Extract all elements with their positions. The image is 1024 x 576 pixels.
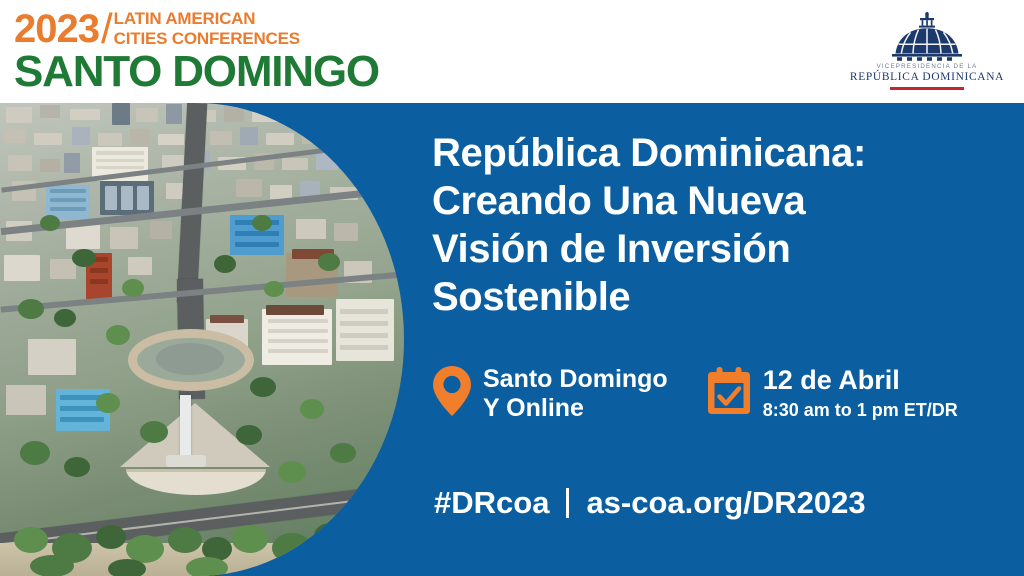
photo-obelisk xyxy=(180,395,191,461)
brand-series-name: LATIN AMERICAN CITIES CONFERENCES xyxy=(114,8,300,49)
event-hashtag: #DRcoa xyxy=(434,485,549,521)
event-meta-row: Santo Domingo Y Online 12 de Abril 8 xyxy=(432,365,958,423)
date-time: 8:30 am to 1 pm ET/DR xyxy=(763,398,958,422)
date-day: 12 de Abril xyxy=(763,365,958,396)
location-city: Santo Domingo xyxy=(483,365,668,394)
event-promo-poster: 2023 / LATIN AMERICAN CITIES CONFERENCES… xyxy=(0,0,1024,576)
event-details: República Dominicana: Creando Una Nueva … xyxy=(432,103,1012,576)
dome-icon xyxy=(881,12,973,62)
photo-obelisk-base xyxy=(166,455,206,467)
event-url[interactable]: as-coa.org/DR2023 xyxy=(586,485,865,521)
vp-logo-underline xyxy=(890,87,964,90)
brand-slash-divider: / xyxy=(101,8,113,50)
main-blue-panel: República Dominicana: Creando Una Nueva … xyxy=(0,103,1024,576)
title-line-2: Creando Una Nueva xyxy=(432,177,992,225)
conference-brand-lockup: 2023 / LATIN AMERICAN CITIES CONFERENCES… xyxy=(14,8,354,96)
event-title: República Dominicana: Creando Una Nueva … xyxy=(432,129,992,321)
map-pin-icon xyxy=(432,365,472,417)
vicepresidencia-logo: VICEPRESIDENCIA DE LA REPÚBLICA DOMINICA… xyxy=(852,12,1002,94)
date-text: 12 de Abril 8:30 am to 1 pm ET/DR xyxy=(763,365,958,422)
photo-monument-arc xyxy=(126,469,266,495)
santo-domingo-aerial-photo xyxy=(0,103,404,576)
footer-links: #DRcoa as-coa.org/DR2023 xyxy=(434,485,866,521)
photo-image xyxy=(0,103,404,576)
photo-plaza-center xyxy=(156,343,224,375)
event-date: 12 de Abril 8:30 am to 1 pm ET/DR xyxy=(706,365,958,422)
event-location: Santo Domingo Y Online xyxy=(432,365,668,423)
brand-city-name: SANTO DOMINGO xyxy=(14,50,354,94)
vp-logo-line1: VICEPRESIDENCIA DE LA xyxy=(877,63,978,70)
brand-series-line1: LATIN AMERICAN xyxy=(114,9,300,29)
brand-series-line2: CITIES CONFERENCES xyxy=(114,29,300,49)
location-text: Santo Domingo Y Online xyxy=(483,365,668,423)
title-line-1: República Dominicana: xyxy=(432,129,992,177)
title-line-3: Visión de Inversión xyxy=(432,225,992,273)
vp-logo-line2: REPÚBLICA DOMINICANA xyxy=(850,71,1004,83)
brand-top-row: 2023 / LATIN AMERICAN CITIES CONFERENCES xyxy=(14,8,354,52)
calendar-check-icon xyxy=(706,367,752,415)
brand-year: 2023 xyxy=(14,8,99,50)
header-band: 2023 / LATIN AMERICAN CITIES CONFERENCES… xyxy=(0,0,1024,103)
title-line-4: Sostenible xyxy=(432,273,992,321)
location-online: Y Online xyxy=(483,394,668,423)
footer-separator xyxy=(566,488,569,518)
